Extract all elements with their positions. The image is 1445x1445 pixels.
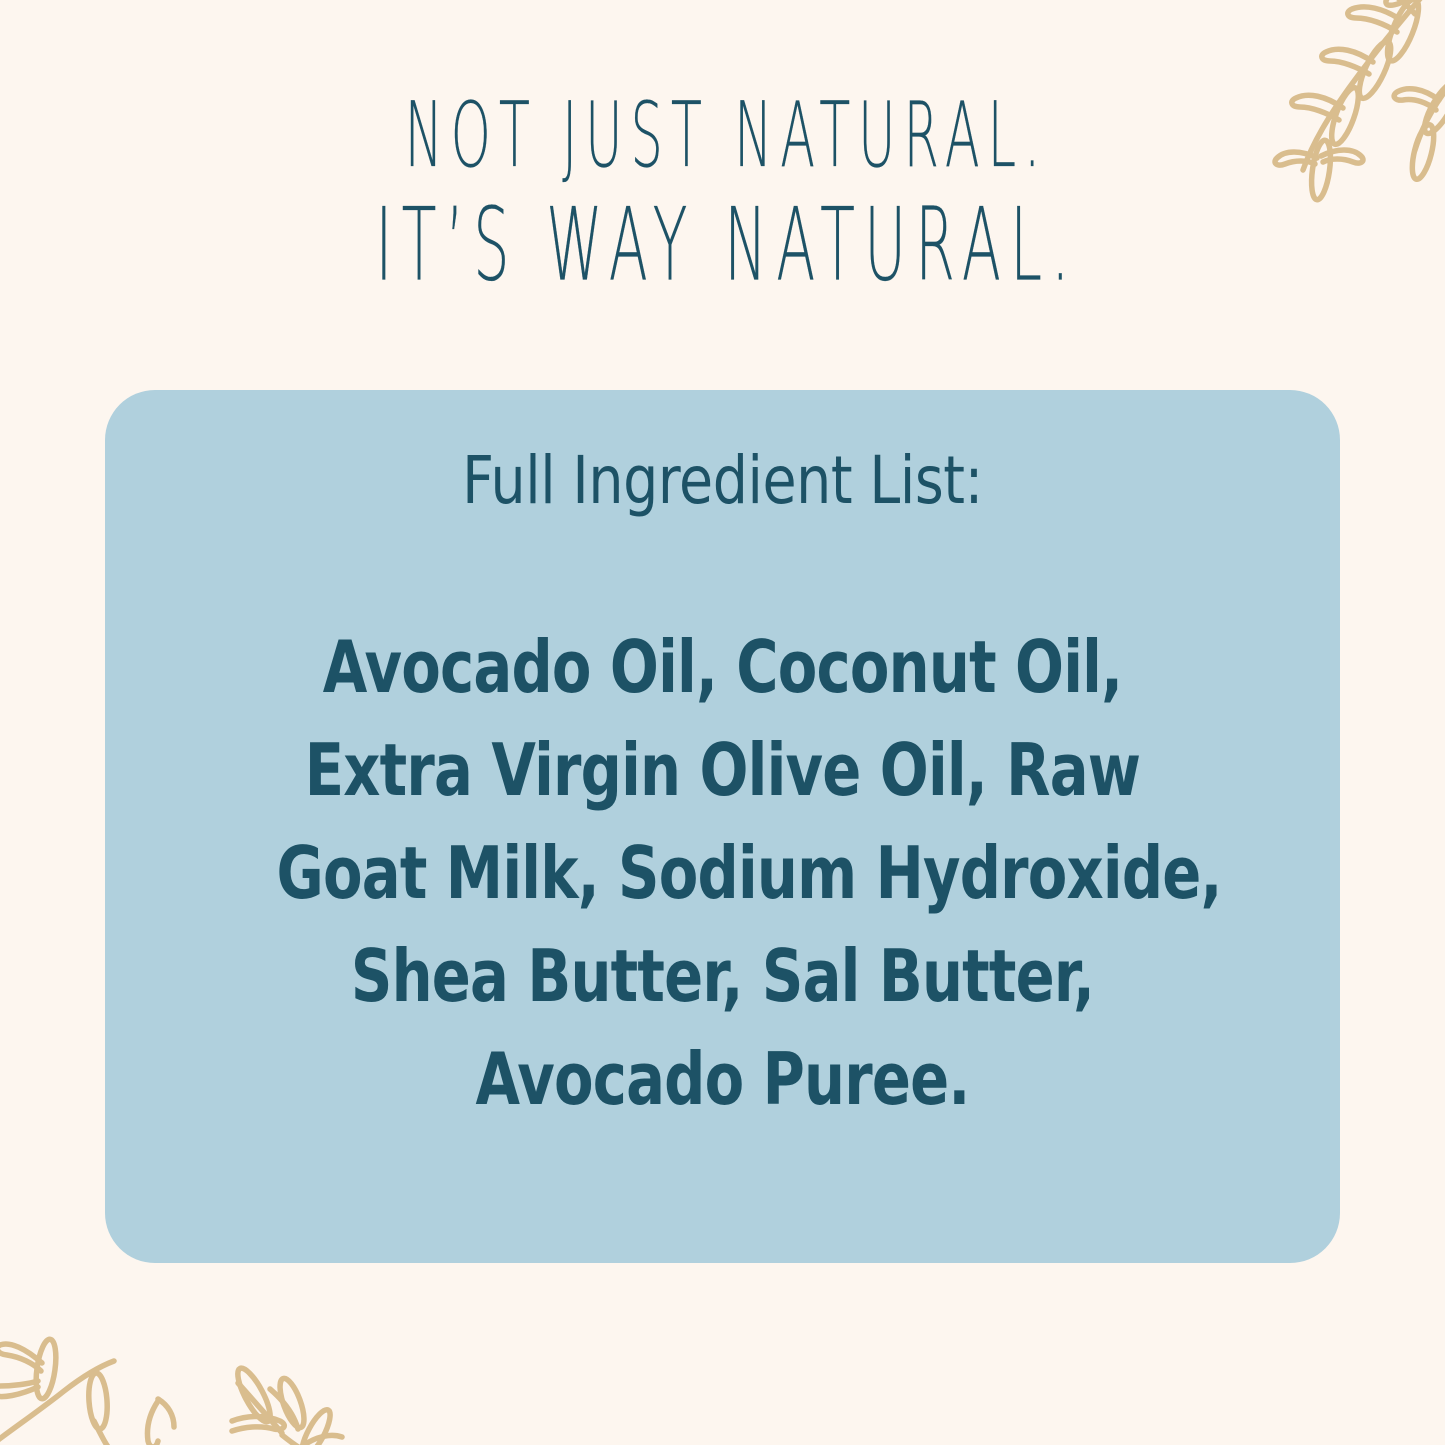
- headline-line-1: NOT JUST NATURAL.: [275, 78, 1171, 195]
- headline-line-2: IT’S WAY NATURAL.: [275, 184, 1171, 307]
- ingredient-line: Avocado Oil, Coconut Oil,: [277, 616, 1169, 719]
- ingredient-line: Extra Virgin Olive Oil, Raw: [277, 719, 1169, 822]
- ingredient-card: Full Ingredient List: Avocado Oil, Cocon…: [105, 390, 1340, 1263]
- ingredient-line: Avocado Puree.: [277, 1028, 1169, 1131]
- olive-branch-icon: [0, 1291, 366, 1445]
- page-title: NOT JUST NATURAL. IT’S WAY NATURAL.: [0, 78, 1445, 296]
- card-heading: Full Ingredient List:: [254, 442, 1191, 520]
- ingredient-line: Goat Milk, Sodium Hydroxide,: [277, 822, 1169, 925]
- ingredient-list: Avocado Oil, Coconut Oil, Extra Virgin O…: [165, 616, 1280, 1131]
- ingredient-poster: NOT JUST NATURAL. IT’S WAY NATURAL. Full…: [0, 0, 1445, 1445]
- ingredient-line: Shea Butter, Sal Butter,: [277, 925, 1169, 1028]
